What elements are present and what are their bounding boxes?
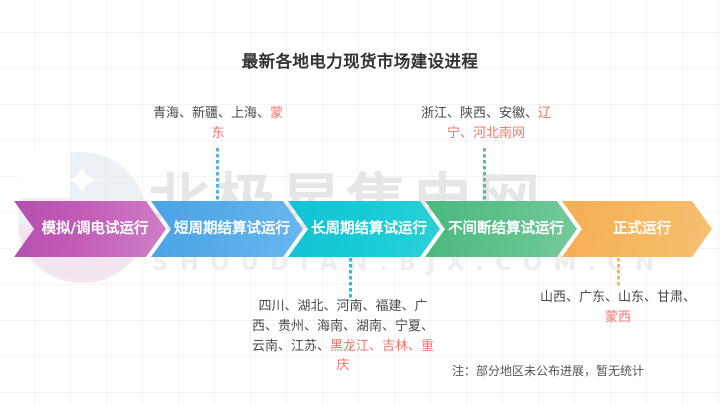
page-title: 最新各地电力现货市场建设进程 <box>0 48 720 72</box>
stage-arrow-4-label: 不间断结算试运行 <box>434 220 568 239</box>
stage-arrow-2[interactable]: 短周期结算试运行 <box>151 201 303 257</box>
connector-stage2-top <box>216 148 219 201</box>
annotation-top-right: 浙江、陕西、安徽、辽宁、河北南网 <box>408 104 564 144</box>
stage-arrow-5-label: 正式运行 <box>599 220 675 239</box>
connector-stage4-top <box>483 148 486 201</box>
annotation-top-left: 青海、新疆、上海、蒙东 <box>150 104 286 144</box>
stage-arrow-2-label: 短周期结算试运行 <box>160 220 294 239</box>
footnote: 注：部分地区未公布进展，暂无统计 <box>452 362 704 379</box>
annotation-bottom-right-plain: 山西、广东、山东、甘肃、 <box>540 290 696 305</box>
annotation-bottom-right-highlight: 蒙西 <box>605 310 631 325</box>
connector-stage5-bottom <box>617 258 620 286</box>
annotation-top-right-plain: 浙江、陕西、安徽、 <box>421 106 538 121</box>
connector-stage3-bottom <box>349 258 352 298</box>
annotation-bottom-center: 四川、湖北、河南、福建、广西、贵州、海南、湖南、宁夏、云南、江苏、黑龙江、吉林、… <box>248 297 438 376</box>
annotation-top-left-plain: 青海、新疆、上海、 <box>153 106 270 121</box>
stage-arrow-1[interactable]: 模拟/调电试运行 <box>14 201 166 257</box>
diagram-canvas: 最新各地电力现货市场建设进程 模拟/调电试运行 短周期结算试运行 长周期结算试运… <box>0 0 720 405</box>
stage-arrow-1-label: 模拟/调电试运行 <box>28 220 153 239</box>
stage-arrow-4[interactable]: 不间断结算试运行 <box>425 201 577 257</box>
annotation-bottom-right: 山西、广东、山东、甘肃、蒙西 <box>534 288 702 328</box>
annotation-bottom-center-highlight: 黑龙江、吉林、重庆 <box>330 339 434 374</box>
stage-arrow-3[interactable]: 长周期结算试运行 <box>288 201 440 257</box>
stage-arrow-5[interactable]: 正式运行 <box>562 201 712 257</box>
stage-arrow-3-label: 长周期结算试运行 <box>297 220 431 239</box>
